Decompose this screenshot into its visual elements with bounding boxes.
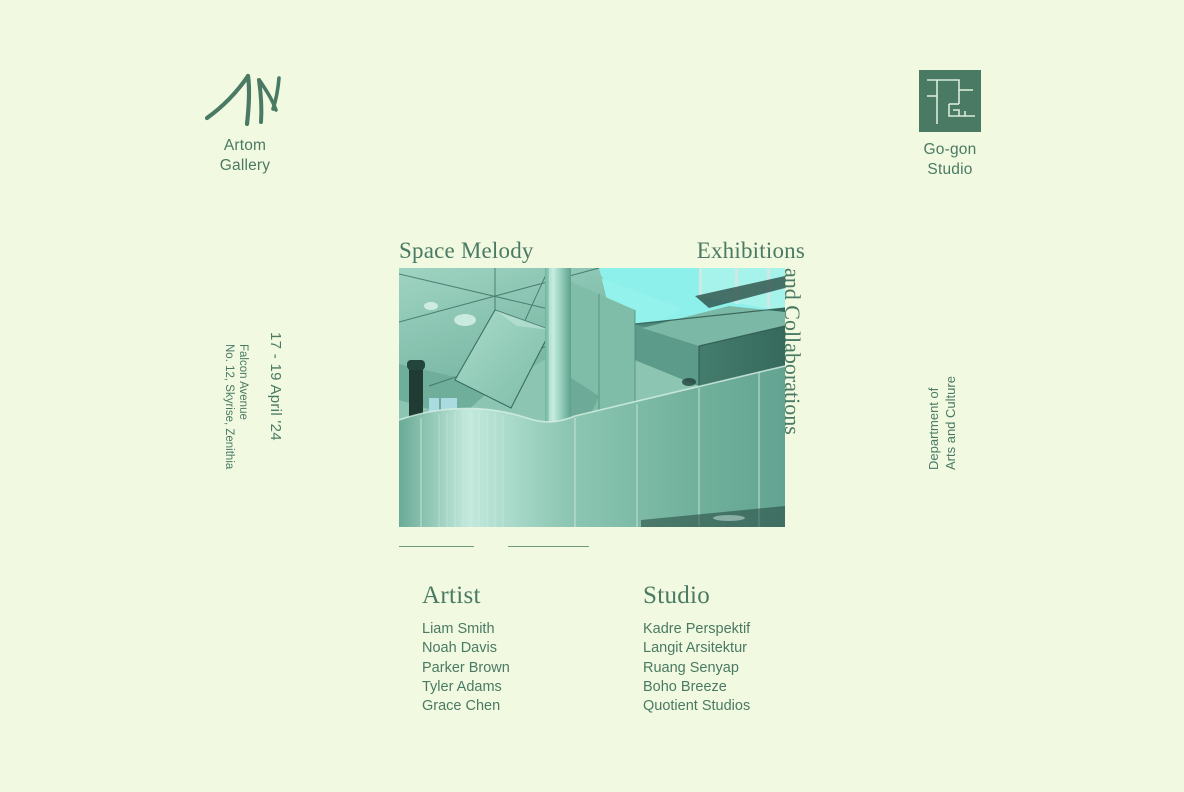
list-item: Liam Smith [422,620,510,639]
headline-and-collaborations: and Collaborations [783,268,809,474]
brand-gogon-line2: Studio [880,160,1020,180]
list-item: Noah Davis [422,639,510,658]
organizer-line-2: Arts and Culture [942,376,959,470]
organizer-credit-text: Department of Arts and Culture [925,376,959,470]
list-item: Tyler Adams [422,678,510,697]
organizer-line-1: Department of [925,376,942,470]
hero-photo [399,268,785,527]
list-item: Grace Chen [422,697,510,716]
event-address: Falcon Avenue No. 12, Skyrise, Zenithia [222,344,250,469]
event-meta-left: 17 - 19 April '24 Falcon Avenue No. 12, … [214,332,284,462]
credits-column-artist: Artist Liam Smith Noah Davis Parker Brow… [422,582,510,716]
headline-row: Space Melody Exhibitions [399,238,805,268]
divider-rule-right [508,546,589,547]
divider-rule-left [399,546,474,547]
studio-list: Kadre Perspektif Langit Arsitektur Ruang… [643,620,750,716]
brand-gogon-line1: Go-gon [880,140,1020,160]
list-item: Ruang Senyap [643,659,750,678]
exhibition-title: Space Melody [399,238,534,264]
list-item: Kadre Perspektif [643,620,750,639]
address-line-1: Falcon Avenue [236,344,250,469]
event-dates: 17 - 19 April '24 [267,332,284,441]
brand-gogon-studio: Go-gon Studio [880,70,1020,180]
list-item: Parker Brown [422,659,510,678]
organizer-credit: Department of Arts and Culture [925,340,981,470]
gogon-floorplan-icon [880,70,1020,132]
address-line-2: No. 12, Skyrise, Zenithia [222,344,236,469]
artist-list: Liam Smith Noah Davis Parker Brown Tyler… [422,620,510,716]
poster-canvas: Artom Gallery Go-gon Studio [0,0,1184,792]
brand-artom-line2: Gallery [175,156,315,176]
list-item: Quotient Studios [643,697,750,716]
headline-exhibitions: Exhibitions [697,238,805,264]
brand-artom-gallery: Artom Gallery [175,70,315,176]
credits-column-studio: Studio Kadre Perspektif Langit Arsitektu… [643,582,750,716]
artom-brushstroke-icon [175,70,315,128]
brand-artom-line1: Artom [175,136,315,156]
list-item: Boho Breeze [643,678,750,697]
artist-heading: Artist [422,582,510,610]
studio-heading: Studio [643,582,750,610]
list-item: Langit Arsitektur [643,639,750,658]
